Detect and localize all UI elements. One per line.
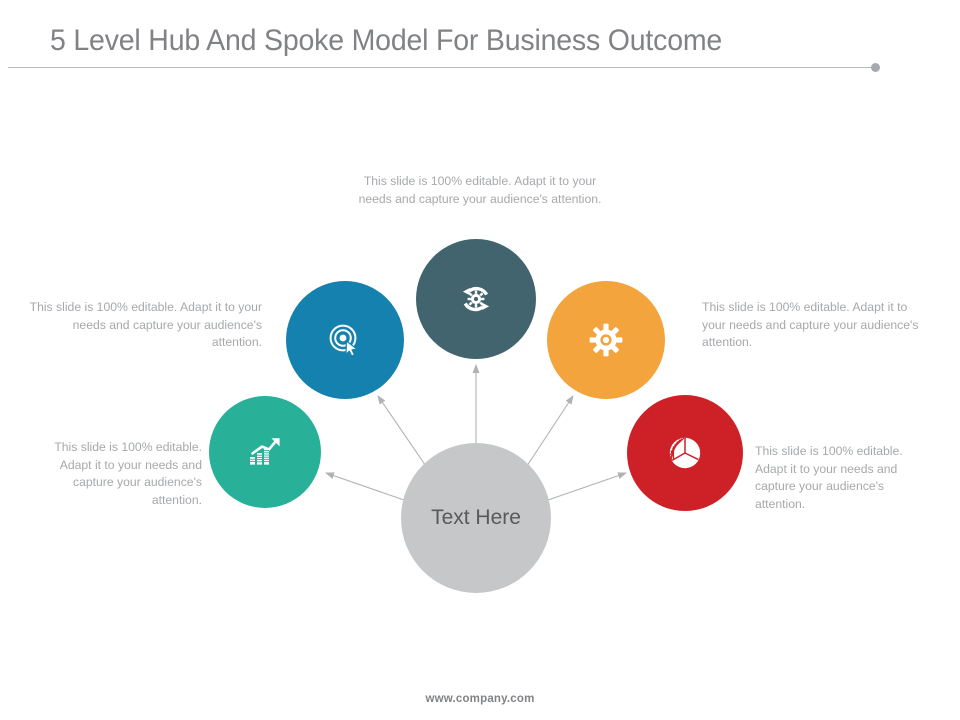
growth-bar-chart-icon (249, 437, 281, 467)
spoke-node-gear[interactable] (547, 281, 665, 399)
caption-left-lower: This slide is 100% editable. Adapt it to… (22, 439, 202, 509)
caption-left-upper: This slide is 100% editable. Adapt it to… (22, 299, 262, 352)
caption-right-upper: This slide is 100% editable. Adapt it to… (702, 299, 927, 352)
connector-to-gear (521, 396, 573, 475)
connector-to-pie (548, 473, 626, 500)
spoke-node-growth[interactable] (209, 396, 321, 508)
spoke-node-pie[interactable] (627, 395, 743, 511)
hub-label: Text Here (431, 506, 521, 530)
caption-right-lower: This slide is 100% editable. Adapt it to… (755, 443, 930, 513)
spoke-node-sync[interactable] (416, 239, 536, 359)
sync-gear-icon (458, 282, 494, 316)
hub-and-spoke-diagram: Text Here (0, 0, 960, 720)
spoke-node-target[interactable] (286, 281, 404, 399)
gear-icon (588, 322, 624, 358)
pie-chart-icon (668, 436, 702, 470)
target-cursor-icon (328, 323, 362, 357)
slide-canvas: 5 Level Hub And Spoke Model For Business… (0, 0, 960, 720)
connector-arrows (0, 0, 960, 720)
connector-to-growth (326, 473, 404, 500)
footer-url: www.company.com (0, 693, 960, 705)
hub-circle[interactable]: Text Here (401, 443, 551, 593)
caption-top: This slide is 100% editable. Adapt it to… (356, 173, 604, 208)
